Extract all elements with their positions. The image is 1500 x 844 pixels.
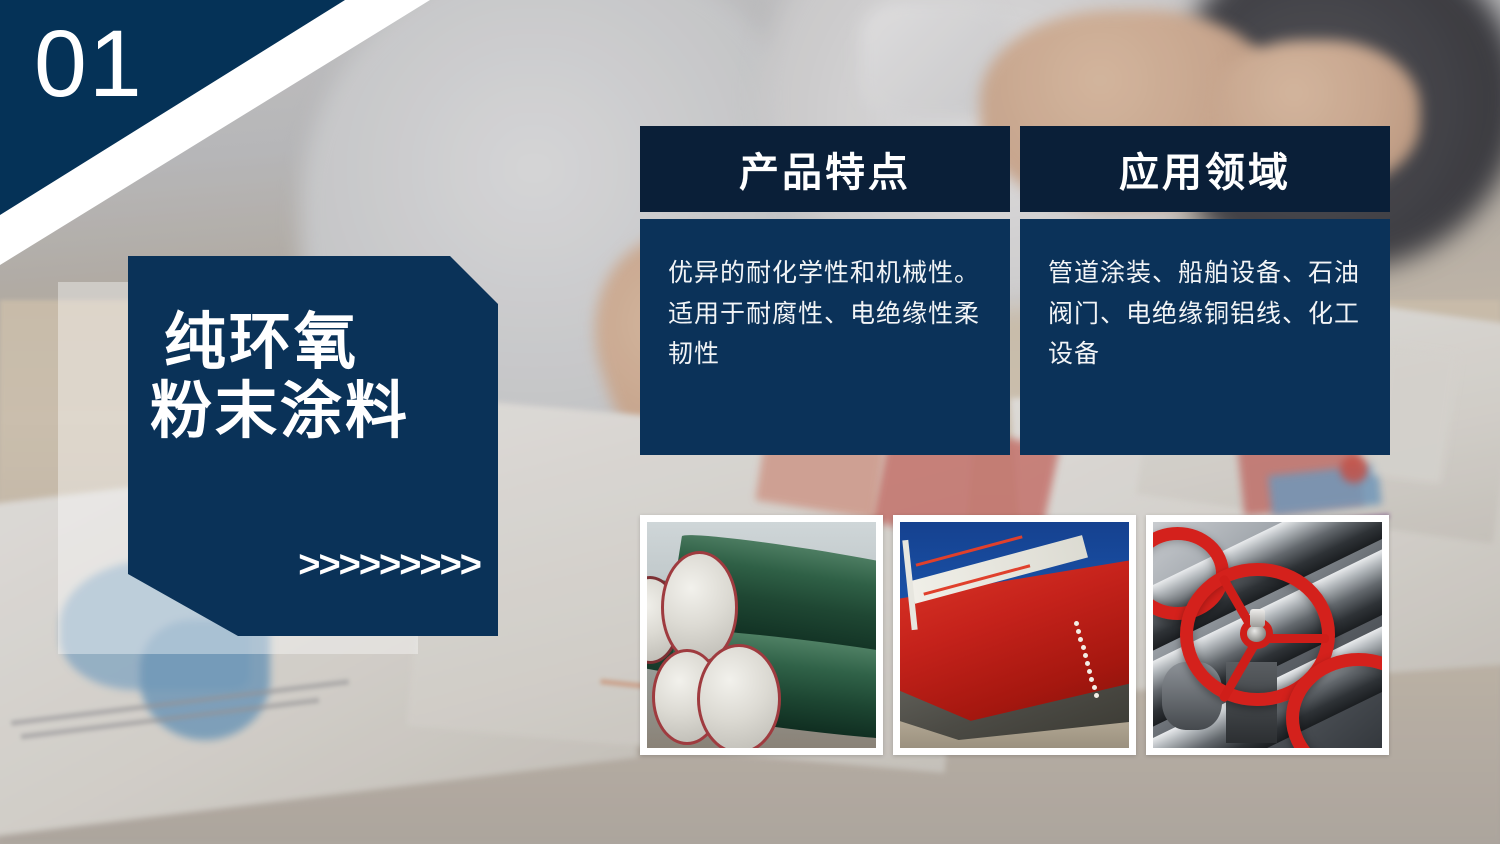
- title-text: 纯环氧 粉末涂料: [146, 308, 486, 447]
- panel-header-label: 产品特点: [739, 140, 911, 198]
- chevron-arrows-icon: >>>>>>>>>: [128, 544, 480, 587]
- panel-body-text: 管道涂装、船舶设备、石油阀门、电绝缘铜铝线、化工设备: [1048, 253, 1364, 375]
- panel-body-product-features: 优异的耐化学性和机械性。适用于耐腐性、电绝缘性柔韧性: [640, 219, 1010, 455]
- photo-row: [640, 515, 1390, 755]
- panel-header-label: 应用领域: [1119, 140, 1291, 198]
- photo-coated-steel-pipes: [647, 522, 876, 748]
- slide-root: 01 纯环氧 粉末涂料 >>>>>>>>> 产品特点 应用领域 优异的耐化学性和…: [0, 0, 1500, 844]
- panel-body-text: 优异的耐化学性和机械性。适用于耐腐性、电绝缘性柔韧性: [668, 253, 984, 375]
- panel-header-application-fields: 应用领域: [1020, 126, 1390, 212]
- title-line-2: 粉末涂料: [146, 377, 486, 446]
- photo-frame-coated-steel-pipes: [640, 515, 883, 755]
- photo-red-ship-hull: [900, 522, 1129, 748]
- title-line-1: 纯环氧: [146, 308, 486, 377]
- pipe-cap-lower-right: [697, 644, 781, 748]
- valve-stem: [1250, 609, 1265, 628]
- info-panel-grid: 产品特点 应用领域 优异的耐化学性和机械性。适用于耐腐性、电绝缘性柔韧性 管道涂…: [640, 126, 1390, 455]
- ship-draft-marks: [1074, 621, 1106, 707]
- title-card: 纯环氧 粉末涂料 >>>>>>>>>: [128, 256, 498, 636]
- panel-body-application-fields: 管道涂装、船舶设备、石油阀门、电绝缘铜铝线、化工设备: [1020, 219, 1390, 455]
- photo-frame-red-ship-hull: [893, 515, 1136, 755]
- photo-frame-red-valve-handwheels: [1146, 515, 1389, 755]
- photo-red-valve-handwheels: [1153, 522, 1382, 748]
- section-number: 01: [34, 17, 144, 112]
- panel-header-product-features: 产品特点: [640, 126, 1010, 212]
